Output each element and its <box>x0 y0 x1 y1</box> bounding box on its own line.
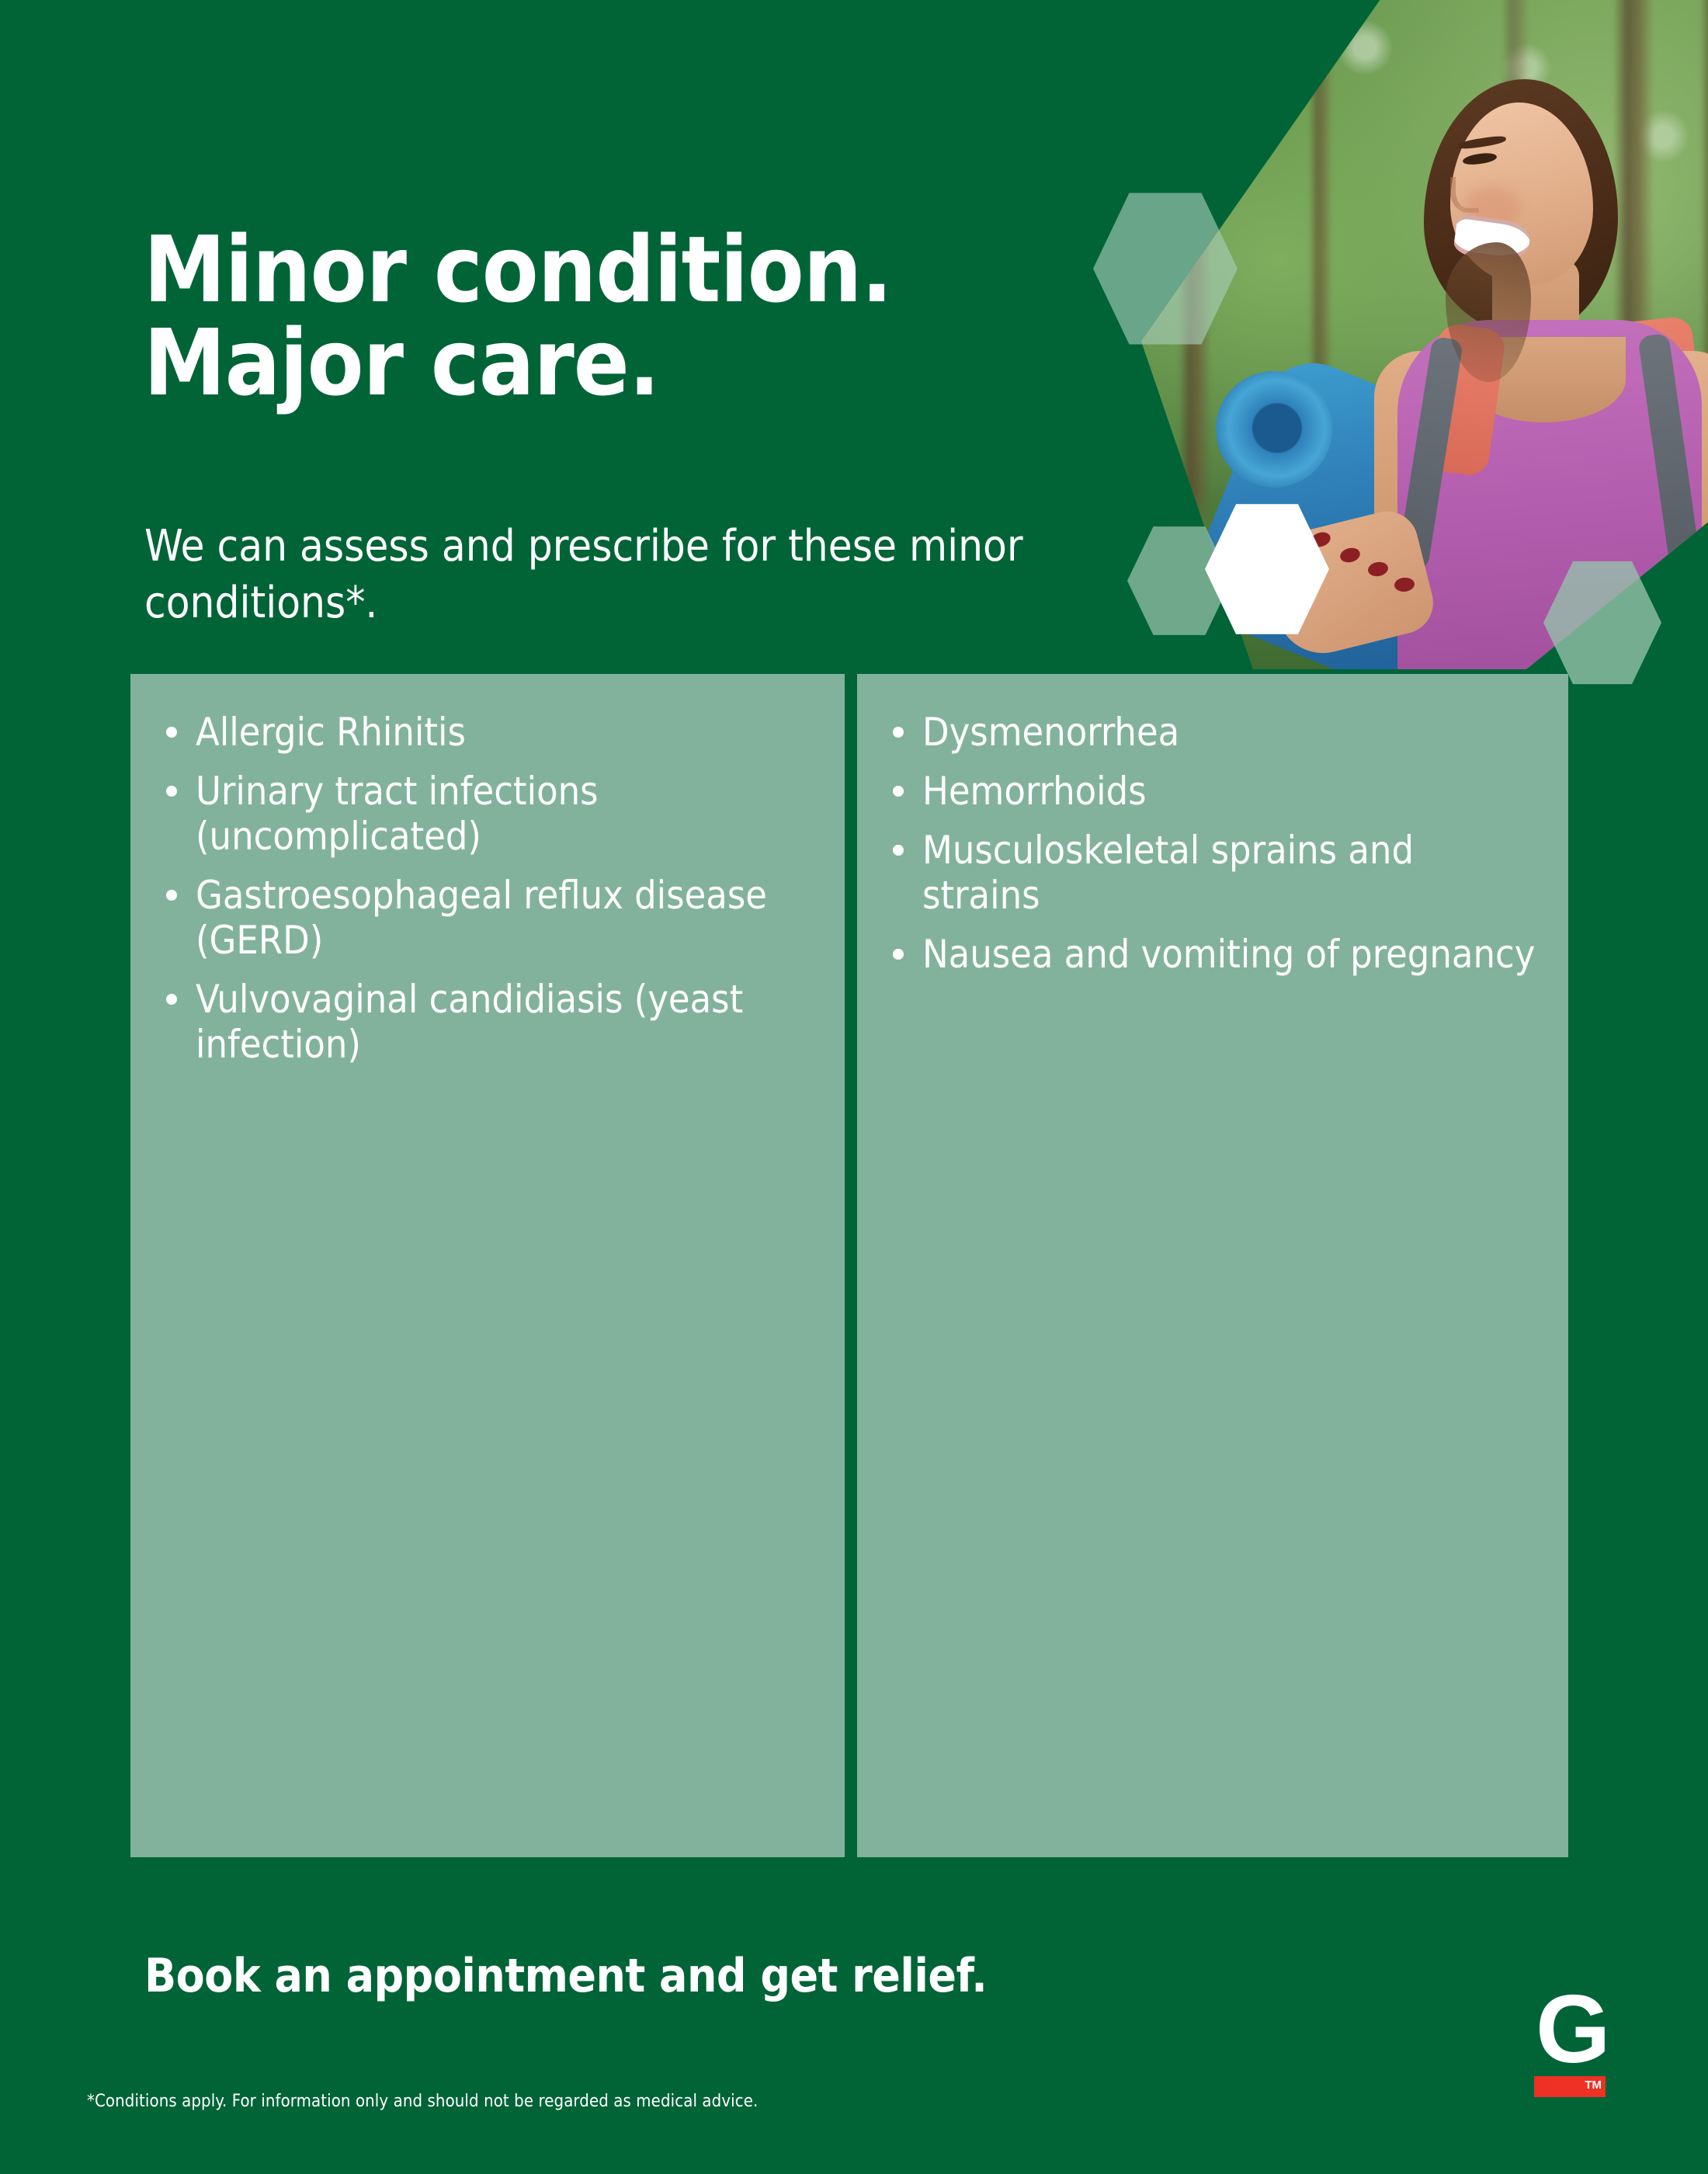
bullet-icon <box>893 786 904 797</box>
bullet-icon <box>893 845 904 856</box>
bullet-icon <box>166 786 177 797</box>
list-item: Nausea and vomiting of pregnancy <box>888 932 1537 977</box>
call-to-action: Book an appointment and get relief. <box>144 1949 987 2003</box>
condition-label: Vulvovaginal candidiasis (yeast infectio… <box>196 977 743 1067</box>
list-item: Dysmenorrhea <box>888 710 1537 755</box>
trademark-symbol: TM <box>1585 2079 1602 2092</box>
list-item: Allergic Rhinitis <box>161 710 814 755</box>
conditions-list-left: Allergic Rhinitis Urinary tract infectio… <box>161 710 814 1067</box>
bullet-icon <box>166 727 177 738</box>
condition-label: Hemorrhoids <box>922 769 1147 814</box>
page-title: Minor condition. Major care. <box>144 223 1137 410</box>
brand-logo: G TM <box>1534 1989 1618 2107</box>
condition-label: Urinary tract infections (uncomplicated) <box>196 769 599 859</box>
condition-label: Dysmenorrhea <box>922 710 1179 755</box>
bullet-icon <box>893 949 904 960</box>
bullet-icon <box>166 890 177 901</box>
list-item: Gastroesophageal reflux disease (GERD) <box>161 873 814 963</box>
condition-label: Nausea and vomiting of pregnancy <box>922 932 1535 977</box>
list-item: Hemorrhoids <box>888 769 1537 814</box>
list-item: Musculoskeletal sprains and strains <box>888 828 1537 918</box>
subheadline: We can assess and prescribe for these mi… <box>144 519 1076 632</box>
headline-line-2: Major care. <box>144 316 1137 409</box>
conditions-panel-left: Allergic Rhinitis Urinary tract infectio… <box>130 674 845 1857</box>
condition-label: Musculoskeletal sprains and strains <box>922 828 1414 918</box>
poster-root: Minor condition. Major care. We can asse… <box>0 0 1708 2174</box>
bullet-icon <box>893 727 904 738</box>
condition-label: Allergic Rhinitis <box>196 710 466 755</box>
conditions-panels: Allergic Rhinitis Urinary tract infectio… <box>130 674 1568 1857</box>
condition-label: Gastroesophageal reflux disease (GERD) <box>196 873 767 963</box>
disclaimer-text: *Conditions apply. For information only … <box>87 2092 758 2111</box>
conditions-list-right: Dysmenorrhea Hemorrhoids Musculoskeletal… <box>888 710 1537 977</box>
headline-line-1: Minor condition. <box>144 216 892 323</box>
logo-letter: G <box>1536 1989 1618 2070</box>
list-item: Urinary tract infections (uncomplicated) <box>161 769 814 859</box>
list-item: Vulvovaginal candidiasis (yeast infectio… <box>161 977 814 1067</box>
logo-red-bar: TM <box>1534 2076 1606 2097</box>
bullet-icon <box>166 994 177 1005</box>
conditions-panel-right: Dysmenorrhea Hemorrhoids Musculoskeletal… <box>857 674 1568 1857</box>
